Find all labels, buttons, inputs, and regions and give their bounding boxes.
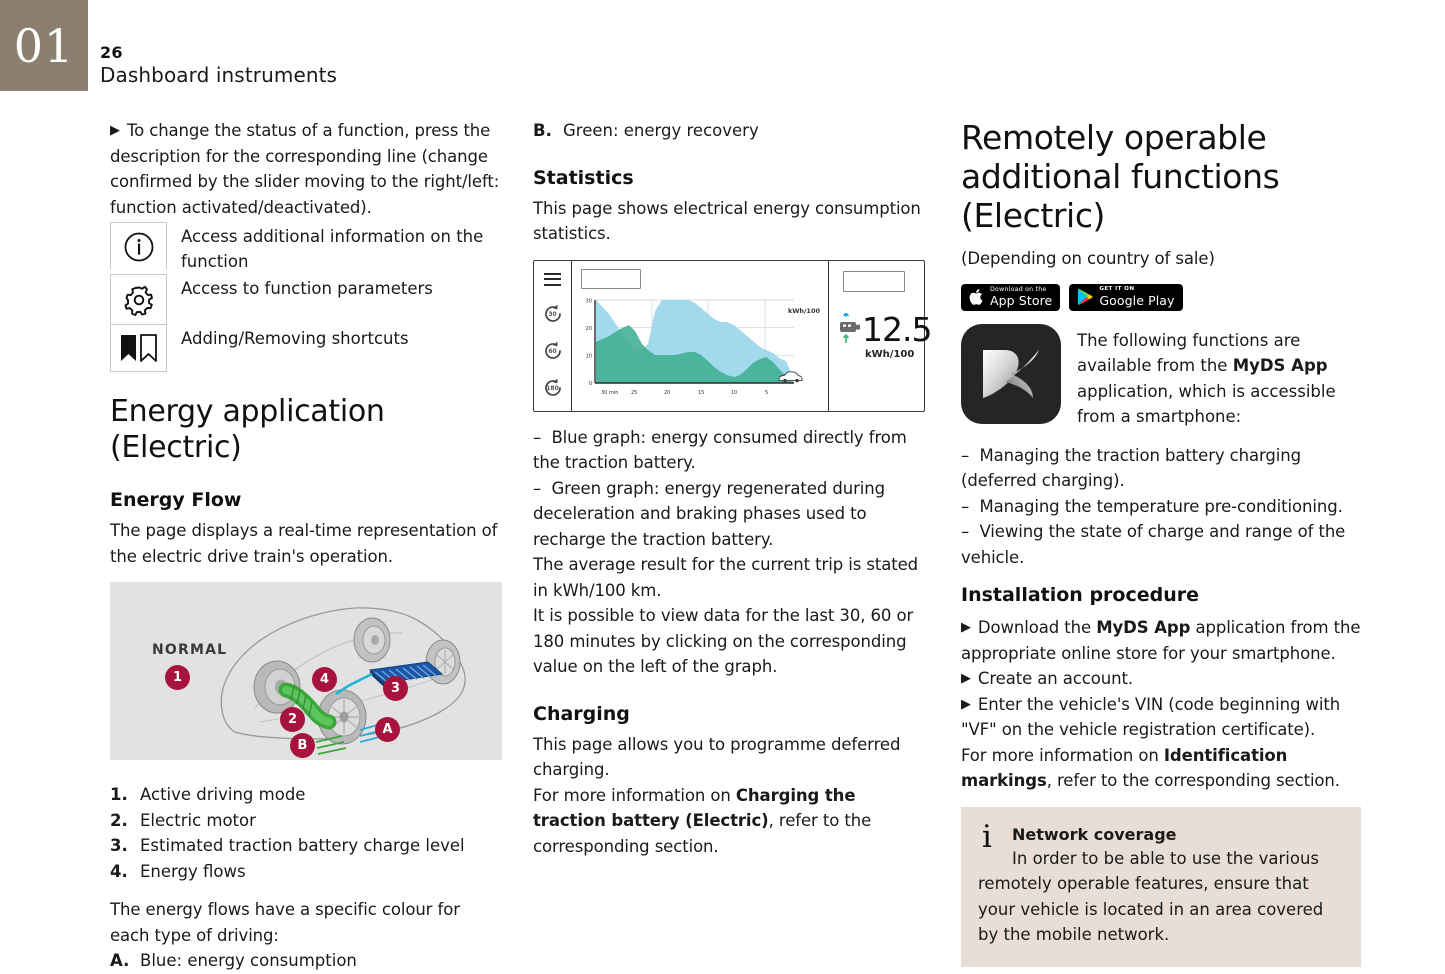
legend-row-parameters: Access to function parameters: [110, 274, 500, 324]
network-coverage-note: i Network coverage In order to be able t…: [961, 807, 1361, 967]
column-two: B. Green: energy recovery Statistics Thi…: [533, 118, 923, 859]
wheel-front-right: [426, 640, 460, 684]
triangle-arrow-icon: ▶: [961, 697, 971, 712]
triangle-arrow-icon: ▶: [110, 123, 120, 138]
svg-text:30 min: 30 min: [601, 390, 618, 396]
time-range-label-30: 30: [541, 311, 565, 318]
page-header: 01 26 Dashboard instruments: [0, 0, 1445, 95]
chapter-badge: 01: [0, 0, 88, 91]
energy-flow-legend-list: 1.Active driving mode 2.Electric motor 3…: [110, 782, 500, 884]
flow-a-item: A. Blue: energy consumption: [110, 948, 500, 974]
marker-2: 2: [280, 707, 305, 732]
page-title: Dashboard instruments: [100, 63, 337, 87]
google-play-text: GET IT ON Google Play: [1099, 287, 1174, 307]
statistics-body: This page shows electrical energy consum…: [533, 196, 923, 247]
statistics-value-panel: 12.5 kWh/100: [829, 261, 924, 411]
flow-b-letter: B.: [533, 118, 563, 144]
note-title: Network coverage: [1012, 824, 1341, 846]
list-item: 3.Estimated traction battery charge leve…: [110, 833, 500, 859]
bullet-managing-charging: – Managing the traction battery charging…: [961, 443, 1361, 494]
page-number: 26: [100, 44, 337, 62]
app-store-big-label: App Store: [990, 295, 1052, 308]
flow-b-text: Green: energy recovery: [563, 118, 759, 144]
bullet-temperature-preconditioning: – Managing the temperature pre-condition…: [961, 494, 1361, 520]
legend-label-info: Access additional information on the fun…: [167, 222, 500, 274]
legend-row-info: Access additional information on the fun…: [110, 222, 500, 274]
wheel-rear-right: [354, 618, 390, 662]
chart-title-field[interactable]: [581, 269, 641, 289]
legend-label-shortcuts: Adding/Removing shortcuts: [167, 324, 409, 351]
section-title-energy-application: Energy application (Electric): [110, 394, 500, 466]
list-item: 2.Electric motor: [110, 808, 500, 834]
google-play-badge[interactable]: GET IT ON Google Play: [1069, 284, 1182, 311]
note-body: In order to be able to use the various r…: [978, 846, 1341, 948]
country-of-sale-note: (Depending on country of sale): [961, 246, 1361, 272]
flows-intro-paragraph: The energy flows have a specific colour …: [110, 897, 500, 948]
battery-energy-icon: [838, 313, 863, 343]
app-store-small-label: Download on the: [990, 287, 1052, 293]
time-range-button-180[interactable]: 180: [541, 376, 565, 400]
time-range-button-60[interactable]: 60: [541, 339, 565, 363]
svg-text:25: 25: [631, 390, 637, 396]
consumption-value: 12.5: [862, 313, 931, 346]
statistics-screen-figure: 30 60 180 kWh/100: [533, 260, 925, 412]
legend-row-shortcuts: Adding/Removing shortcuts: [110, 324, 500, 372]
apple-icon: [969, 288, 984, 306]
time-range-label-180: 180: [541, 385, 565, 392]
step-create-account: ▶Create an account.: [961, 666, 1361, 692]
marker-1: 1: [165, 665, 190, 690]
myds-app-block: The following functions are available fr…: [961, 324, 1361, 430]
bullet-blue-graph: – Blue graph: energy consumed directly f…: [533, 425, 923, 476]
marker-a: A: [375, 717, 400, 742]
icon-legend-table: Access additional information on the fun…: [110, 222, 500, 372]
identification-markings-paragraph: For more information on Identification m…: [961, 743, 1361, 794]
bullet-state-of-charge: – Viewing the state of charge and range …: [961, 519, 1361, 570]
step-enter-vin: ▶Enter the vehicle's VIN (code beginning…: [961, 692, 1361, 743]
average-result-paragraph: The average result for the current trip …: [533, 552, 923, 603]
svg-text:10: 10: [731, 390, 737, 396]
time-range-paragraph: It is possible to view data for the last…: [533, 603, 923, 680]
subtitle-statistics: Statistics: [533, 166, 923, 190]
bookmark-pair-icon: [110, 324, 167, 372]
energy-flow-blue: [336, 674, 372, 694]
intro-paragraph: ▶To change the status of a function, pre…: [110, 118, 500, 220]
step-download-app: ▶Download the MyDS App application from …: [961, 615, 1361, 666]
gear-icon: [110, 274, 167, 324]
header-text-block: 26 Dashboard instruments: [100, 44, 337, 87]
svg-text:20: 20: [586, 326, 592, 332]
driving-mode-label: NORMAL: [152, 642, 227, 658]
statistics-sidebar: 30 60 180: [534, 261, 572, 411]
charging-body-2: For more information on Charging the tra…: [533, 783, 923, 860]
bullet-green-graph: – Green graph: energy regenerated during…: [533, 476, 923, 553]
google-play-small-label: GET IT ON: [1099, 287, 1174, 293]
charging-body-1: This page allows you to programme deferr…: [533, 732, 923, 783]
hamburger-menu-icon[interactable]: [544, 273, 561, 290]
consumption-unit: kWh/100: [865, 349, 914, 360]
myds-app-icon: [961, 324, 1061, 424]
svg-text:20: 20: [664, 390, 670, 396]
column-one: ▶To change the status of a function, pre…: [110, 118, 500, 974]
triangle-arrow-icon: ▶: [961, 620, 971, 635]
legend-label-parameters: Access to function parameters: [167, 274, 433, 301]
flow-a-text: Blue: energy consumption: [140, 948, 357, 974]
time-range-button-30[interactable]: 30: [541, 302, 565, 326]
svg-text:10: 10: [586, 353, 592, 359]
energy-flow-body: The page displays a real-time representa…: [110, 518, 500, 569]
list-item: 4.Energy flows: [110, 859, 500, 885]
app-store-text: Download on the App Store: [990, 287, 1052, 308]
app-store-badge[interactable]: Download on the App Store: [961, 284, 1060, 311]
store-badges: Download on the App Store GET IT ON Goog…: [961, 284, 1361, 311]
info-i-icon: i: [982, 822, 992, 853]
info-circle-icon: [110, 222, 167, 270]
marker-b: B: [290, 733, 315, 758]
svg-text:15: 15: [698, 390, 704, 396]
section-title-remote-functions: Remotely operable additional functions (…: [961, 118, 1361, 235]
flow-b-item: B. Green: energy recovery: [533, 118, 923, 144]
value-panel-title-field[interactable]: [843, 271, 905, 292]
marker-3: 3: [383, 676, 408, 701]
statistics-chart-panel: kWh/100: [572, 261, 829, 411]
svg-text:5: 5: [765, 390, 768, 396]
svg-text:30: 30: [586, 298, 592, 304]
myds-app-description: The following functions are available fr…: [1077, 324, 1361, 430]
time-range-label-60: 60: [541, 348, 565, 355]
triangle-arrow-icon: ▶: [961, 671, 971, 686]
flow-a-letter: A.: [110, 948, 140, 974]
column-three: Remotely operable additional functions (…: [961, 118, 1361, 967]
google-play-big-label: Google Play: [1099, 295, 1174, 308]
energy-area-chart: 30 20 10 0 30 min 25 20 15 10 5: [579, 297, 811, 401]
svg-text:0: 0: [589, 381, 592, 387]
chart-svg: 30 20 10 0 30 min 25 20 15 10 5: [579, 297, 811, 401]
list-item: 1.Active driving mode: [110, 782, 500, 808]
subtitle-installation-procedure: Installation procedure: [961, 583, 1361, 607]
play-triangle-icon: [1077, 288, 1093, 306]
subtitle-energy-flow: Energy Flow: [110, 488, 500, 512]
marker-4: 4: [312, 667, 337, 692]
subtitle-charging: Charging: [533, 702, 923, 726]
energy-flow-illustration: NORMAL 1 2 3 4 A B: [110, 582, 502, 760]
